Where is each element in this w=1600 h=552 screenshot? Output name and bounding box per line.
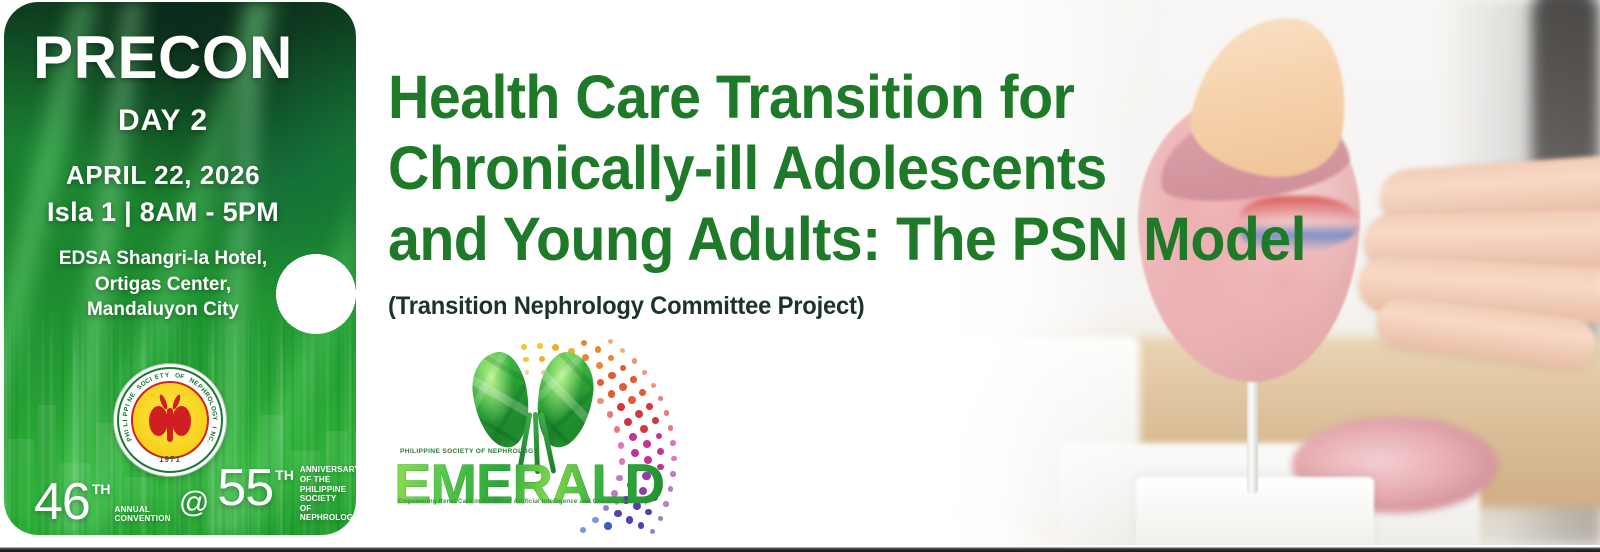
anniversary-number-sup: TH [275,467,294,483]
venue-line-1: EDSA Shangri-la Hotel, [4,246,322,272]
psn-society-seal: PHILIPPINE SOCIETY OF NEPHROLOGY INC. 19… [114,364,226,476]
anniversary-block: 46 TH ANNUAL CONVENTION @ 55 TH ANNIVERS… [34,464,324,526]
anniversary-number: 55 [217,465,273,512]
emerald-tagline: Empowering Renal Care in the Era of Arti… [398,498,648,505]
precon-green-panel: PRECON DAY 2 APRIL 22, 2026 Isla 1 | 8AM… [4,2,356,535]
convention-number-sup: TH [92,481,111,497]
anniversary-caption-line-1: ANNIVERSARY OF THE [300,465,356,484]
headline-line-1: Health Care Transition for [388,62,1347,133]
panel-text-block: PRECON DAY 2 APRIL 22, 2026 Isla 1 | 8AM… [4,2,322,323]
convention-caption: ANNUAL CONVENTION [115,505,171,523]
convention-number: 46 [34,479,90,526]
precon-time: Isla 1 | 8AM - 5PM [4,197,322,228]
bottom-divider [0,547,1600,552]
clinician-hand [1358,148,1600,378]
seal-year: 1971 [114,455,226,464]
precon-venue: EDSA Shangri-la Hotel, Ortigas Center, M… [4,246,322,323]
venue-line-3: Mandaluyon City [4,297,322,323]
convention-number-group: 46 TH ANNUAL CONVENTION [34,479,171,526]
precon-date: APRIL 22, 2026 [4,160,322,191]
session-headline: Health Care Transition for Chronically-i… [388,62,1347,274]
convention-caption-line-2: CONVENTION [115,514,171,523]
at-symbol: @ [179,486,209,520]
anniversary-caption-line-2: PHILIPPINE SOCIETY [300,485,356,504]
precon-banner: PRECON DAY 2 APRIL 22, 2026 Isla 1 | 8AM… [0,0,1600,552]
emerald-kidney-icon [474,352,592,462]
precon-title: PRECON [4,2,322,88]
convention-caption-line-1: ANNUAL [115,505,171,514]
seal-kidney-emblem [147,394,193,444]
anniversary-caption-line-3: OF NEPHROLOGY [300,504,356,523]
anniversary-number-group: 55 TH ANNIVERSARY OF THE PHILIPPINE SOCI… [217,465,356,526]
emerald-logo: PHILIPPINE SOCIETY OF NEPHROLOGY EMERALD… [386,340,674,532]
anniversary-caption: ANNIVERSARY OF THE PHILIPPINE SOCIETY OF… [300,465,356,523]
headline-line-2: Chronically-ill Adolescents [388,133,1347,204]
seal-inner-disc [131,381,209,459]
venue-line-2: Ortigas Center, [4,272,322,298]
headline-line-3: and Young Adults: The PSN Model [388,204,1347,275]
session-subhead: (Transition Nephrology Committee Project… [388,292,864,321]
precon-day: DAY 2 [4,104,322,138]
